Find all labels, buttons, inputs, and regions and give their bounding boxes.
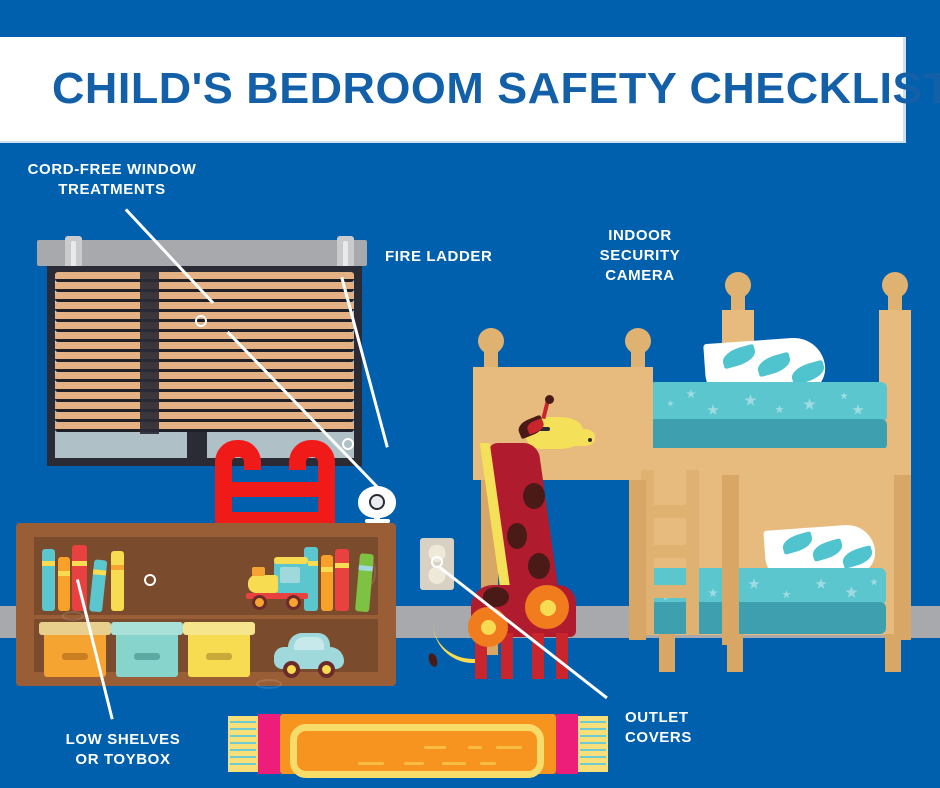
bed-leg xyxy=(727,634,743,672)
yellow-bin xyxy=(188,631,250,677)
callout-label-cord-free-window-treatments: CORD-FREE WINDOW TREATMENTS xyxy=(12,160,212,200)
book xyxy=(58,557,70,611)
book xyxy=(335,549,349,611)
mint-bin xyxy=(116,631,178,677)
bed-leg xyxy=(894,475,911,640)
book xyxy=(42,549,55,611)
infographic-canvas: CHILD'S BEDROOM SAFETY CHECKLIST xyxy=(0,0,940,788)
giraffe-pull-string xyxy=(433,617,475,663)
callout-dot-window-blinds xyxy=(195,315,207,327)
mattress-upper xyxy=(649,382,887,422)
bed-leg xyxy=(722,475,739,645)
title-banner: CHILD'S BEDROOM SAFETY CHECKLIST xyxy=(0,37,906,143)
toy-car xyxy=(274,631,346,677)
bookshelf-frame xyxy=(16,523,396,686)
callout-label-low-shelves-or-toybox: LOW SHELVES OR TOYBOX xyxy=(28,730,218,770)
callout-label-fire-ladder: FIRE LADDER xyxy=(385,247,492,267)
page-title: CHILD'S BEDROOM SAFETY CHECKLIST xyxy=(52,64,940,114)
rug-border xyxy=(290,724,544,778)
rug-stripe-left xyxy=(258,714,280,774)
callout-dot-fire-ladder xyxy=(342,438,354,450)
rug-fringe-left xyxy=(228,716,258,772)
toy-train xyxy=(244,557,314,611)
floor-rug xyxy=(228,712,608,776)
rug-fringe-right xyxy=(578,716,608,772)
blind-valance xyxy=(37,240,367,266)
bunk-ladder-rung[interactable] xyxy=(641,585,699,598)
callout-dot-outlet xyxy=(431,556,443,568)
callout-dot-bookshelf xyxy=(144,574,156,586)
fire-escape-ladder xyxy=(215,440,335,535)
blind-center-strip xyxy=(140,272,159,434)
callout-label-outlet-covers: OUTLET COVERS xyxy=(625,708,692,748)
book xyxy=(72,545,87,611)
bunk-ladder-rung[interactable] xyxy=(641,505,699,518)
mattress-base-upper xyxy=(649,419,887,450)
camera-lens-icon xyxy=(369,494,385,510)
mattress-base-lower xyxy=(648,602,886,634)
book xyxy=(321,555,333,611)
callout-label-indoor-security-camera: INDOOR SECURITY CAMERA xyxy=(575,226,705,286)
book xyxy=(111,551,124,611)
rug-stripe-right xyxy=(556,714,578,774)
security-camera xyxy=(357,486,399,522)
bunk-ladder-rung[interactable] xyxy=(641,545,699,558)
bed-leg xyxy=(629,480,646,640)
bed-leg xyxy=(659,634,675,672)
